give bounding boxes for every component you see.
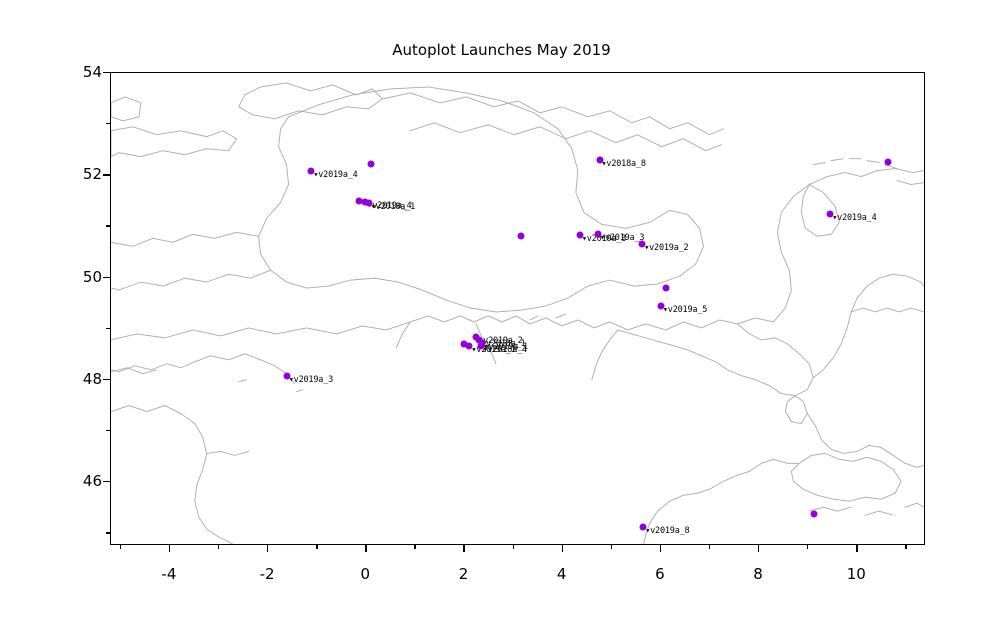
y-major-tick (103, 379, 110, 380)
scatter-point (367, 161, 374, 168)
scatter-point-label: ▾v2019a_3 (289, 375, 333, 385)
y-major-tick (103, 481, 110, 482)
scatter-point-label: ▾v2019a_4 (832, 213, 876, 223)
scatter-point-label: ▾v2018a_8 (602, 159, 646, 169)
x-major-tick (562, 545, 563, 552)
scatter-point-label: ▾v2019a_5 (663, 305, 707, 315)
y-major-tick (103, 72, 110, 73)
x-tick-label: 0 (361, 565, 371, 583)
scatter-point-label: ▾v2018a_1 (371, 202, 415, 212)
x-minor-tick (120, 545, 121, 549)
x-minor-tick (218, 545, 219, 549)
scatter-point (518, 232, 525, 239)
scatter-point (884, 159, 891, 166)
x-major-tick (169, 545, 170, 552)
y-minor-tick (106, 532, 110, 533)
y-tick-label: 54 (60, 63, 102, 81)
y-minor-tick (106, 328, 110, 329)
x-major-tick (660, 545, 661, 552)
x-tick-label: 4 (557, 565, 567, 583)
scatter-point (662, 284, 669, 291)
x-tick-label: -2 (260, 565, 275, 583)
scatter-point-label: ▾v2019a_4 (313, 170, 357, 180)
y-major-tick (103, 277, 110, 278)
x-minor-tick (414, 545, 415, 549)
x-tick-label: 10 (847, 565, 866, 583)
scatter-point (811, 511, 818, 518)
x-minor-tick (807, 545, 808, 549)
y-minor-tick (106, 225, 110, 226)
figure-canvas: Autoplot Launches May 2019 4648505254 -4… (0, 0, 1003, 633)
x-major-tick (365, 545, 366, 552)
chart-title: Autoplot Launches May 2019 (0, 41, 1003, 59)
map-plot-area: ▾v2019a_4▾v2019a_4▾v2018a_1▾v2019a_3▾v20… (110, 72, 925, 545)
scatter-point-label: ▾v2019a_3 (600, 233, 644, 243)
scatter-point-label: ▾v2019a_8 (645, 526, 689, 536)
x-minor-tick (513, 545, 514, 549)
x-major-tick (463, 545, 464, 552)
y-axis-tick-labels: 4648505254 (60, 0, 102, 633)
y-minor-tick (106, 430, 110, 431)
x-minor-tick (905, 545, 906, 549)
y-tick-label: 50 (60, 268, 102, 286)
y-major-tick (103, 174, 110, 175)
x-major-tick (267, 545, 268, 552)
y-minor-tick (106, 123, 110, 124)
x-tick-label: 8 (753, 565, 763, 583)
x-tick-label: -4 (161, 565, 176, 583)
x-tick-label: 6 (655, 565, 665, 583)
scatter-point-label: ▾v2018a_4 (483, 345, 527, 355)
y-tick-label: 46 (60, 472, 102, 490)
x-minor-tick (316, 545, 317, 549)
y-tick-label: 52 (60, 165, 102, 183)
x-tick-label: 2 (459, 565, 469, 583)
x-minor-tick (611, 545, 612, 549)
x-major-tick (856, 545, 857, 552)
x-axis-tick-labels: -4-20246810 (0, 555, 1003, 585)
scatter-point-label: ▾v2019a_2 (644, 243, 688, 253)
x-major-tick (758, 545, 759, 552)
y-tick-label: 48 (60, 370, 102, 388)
scatter-points-layer: ▾v2019a_4▾v2019a_4▾v2018a_1▾v2019a_3▾v20… (111, 73, 924, 544)
x-minor-tick (709, 545, 710, 549)
